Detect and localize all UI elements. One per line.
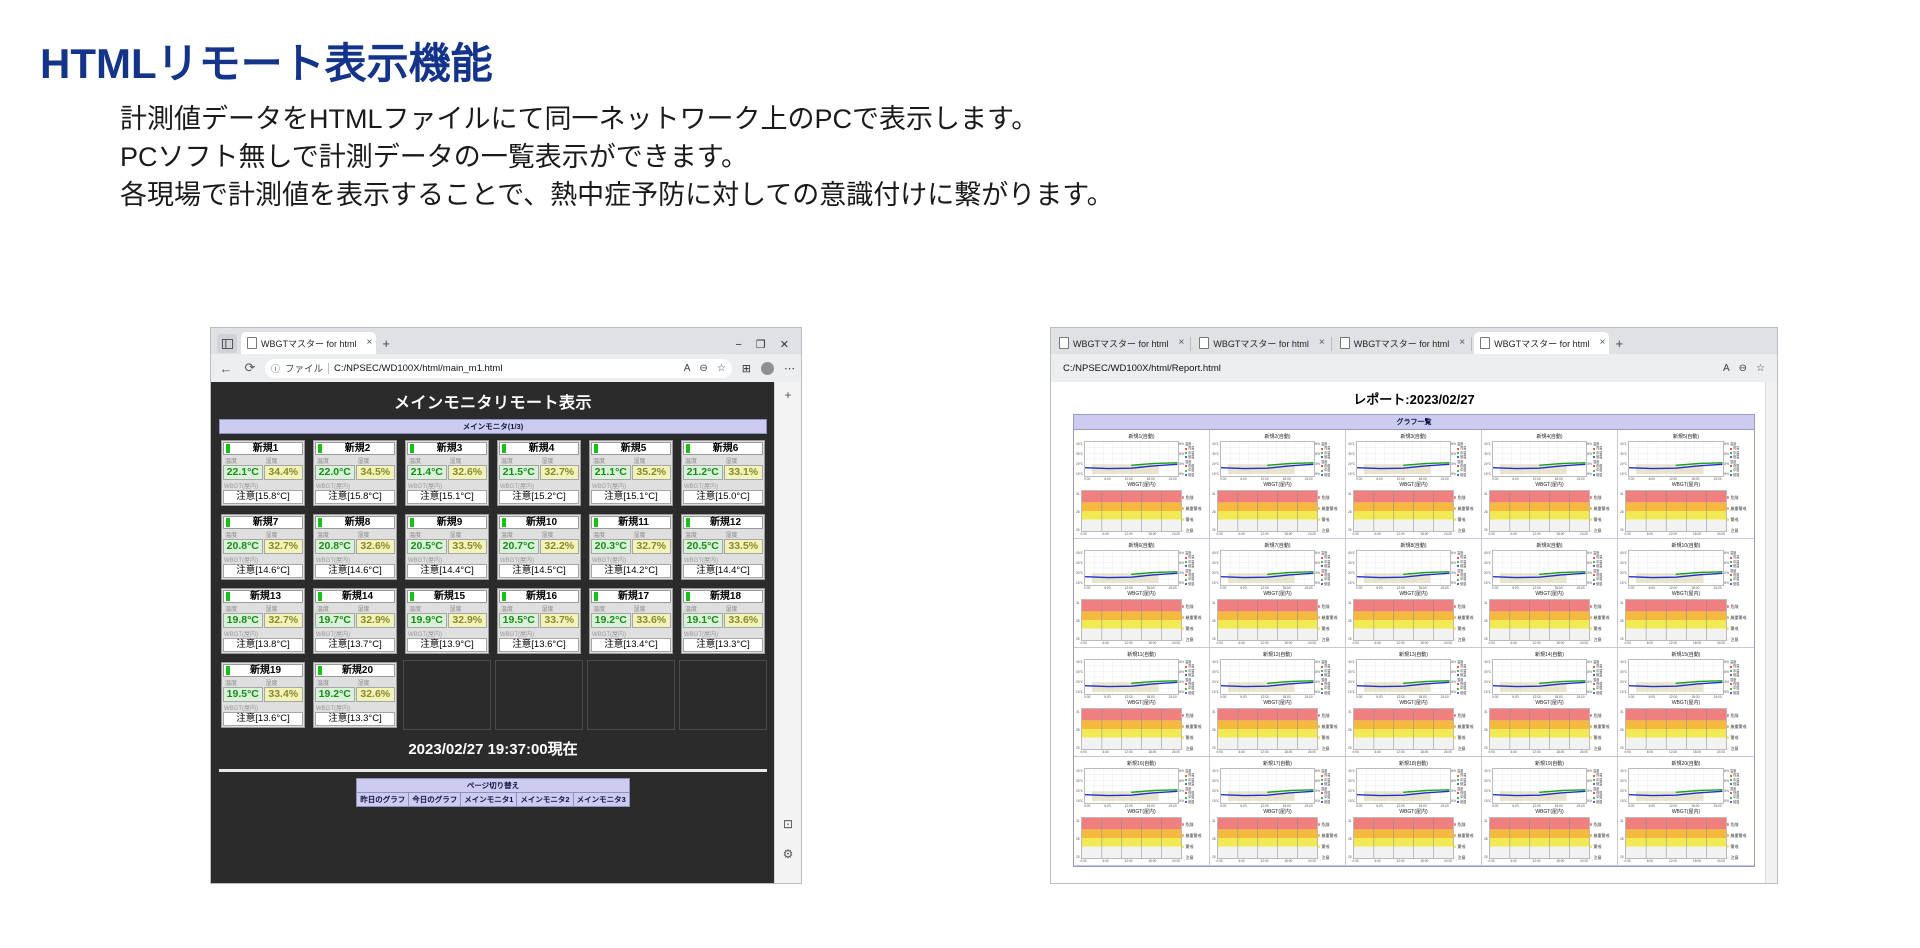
- status-led-icon: [686, 518, 690, 527]
- x-axis: 0:006:0012:0018:0024:00: [1356, 477, 1448, 481]
- legend-swatch: [1321, 670, 1323, 672]
- wbgt-chart-title: WBGT(屋内): [1484, 808, 1615, 815]
- legend-swatch: [1321, 452, 1323, 454]
- report-chart-cell[interactable]: 新規2(自動)40℃30℃20℃15℃0:006:0012:0018:0024:…: [1210, 430, 1346, 539]
- monitor-cell-labels: 温度湿度: [407, 456, 487, 465]
- humidity-value: 32.9%: [448, 613, 488, 628]
- status-led-icon: [226, 444, 230, 453]
- monitor-cell-box: 新規9温度湿度20.5°C33.5%WBGT(屋内)注意[14.4°C]: [405, 514, 489, 580]
- monitor-cell-name: 新規2: [325, 443, 394, 454]
- monitor-cell-labels: 温度湿度: [499, 604, 579, 613]
- monitor-cell[interactable]: 新規5温度湿度21.1°C35.2%WBGT(屋内)注意[15.1°C]: [587, 438, 675, 508]
- monitor-cell-box: 新規5温度湿度21.1°C35.2%WBGT(屋内)注意[15.1°C]: [589, 440, 673, 506]
- legend-swatch: [1185, 779, 1187, 781]
- status-led-icon: [686, 592, 690, 601]
- wbgt-chart-title: WBGT(屋内): [1212, 481, 1343, 488]
- wbgt-chart-title: WBGT(屋内): [1484, 590, 1615, 597]
- monitor-cell-header: 新規5: [591, 442, 671, 455]
- temp-label: 温度: [683, 604, 723, 613]
- legend-item: 危険: [1453, 819, 1479, 830]
- chart-legend: 温度高温中温低温湿度高湿中湿低湿: [1457, 441, 1479, 477]
- legend-swatch: [1185, 557, 1187, 559]
- page-title: HTMLリモート表示機能: [40, 30, 493, 91]
- monitor-cell-labels: 温度湿度: [223, 530, 303, 539]
- maximize-button[interactable]: ❐: [756, 338, 766, 351]
- legend-label: 厳重警戒: [1594, 830, 1610, 841]
- monitor-cell-box: 新規10温度湿度20.7°C32.2%WBGT(屋内)注意[14.5°C]: [497, 514, 581, 580]
- wbgt-plot-area: 0:006:0012:0018:0024:00: [1217, 708, 1316, 754]
- temp-label: 温度: [499, 530, 539, 539]
- tab-wbgt-2[interactable]: WBGTマスター for html×: [1193, 332, 1328, 354]
- page-icon: [1059, 337, 1069, 349]
- report-chart-cell[interactable]: 新規9(自動)40℃30℃20℃15℃0:006:0012:0018:0024:…: [1482, 539, 1618, 648]
- wbgt-x-axis: 0:006:0012:0018:0024:00: [1489, 532, 1588, 536]
- monitor-cell[interactable]: 新規14温度湿度19.7°C32.9%WBGT(屋内)注意[13.7°C]: [311, 586, 399, 656]
- chart-legend: 温度高温中温低温湿度高湿中湿低湿: [1185, 550, 1207, 586]
- page-switch-button[interactable]: 今日のグラフ: [409, 793, 461, 806]
- page-icon: [1480, 337, 1490, 349]
- legend-item: 警戒: [1589, 514, 1615, 525]
- close-window-button[interactable]: ✕: [780, 338, 789, 351]
- monitor-cell[interactable]: 新規1温度湿度22.1°C34.4%WBGT(屋内)注意[15.8°C]: [219, 438, 307, 508]
- wbgt-label: WBGT(屋内): [407, 481, 487, 490]
- wbgt-x-axis: 0:006:0012:0018:0024:00: [1625, 641, 1725, 645]
- report-chart-cell[interactable]: 新規15(自動)40℃30℃20℃15℃0:006:0012:0018:0024…: [1618, 648, 1754, 757]
- hum-label: 湿度: [356, 456, 396, 465]
- legend-label: 低温: [1596, 782, 1602, 786]
- plot-area: 0:006:0012:0018:0024:00: [1084, 550, 1176, 590]
- monitor-cell[interactable]: 新規16温度湿度19.5°C33.7%WBGT(屋内)注意[13.6°C]: [495, 586, 583, 656]
- report-chart-cell[interactable]: 新規18(自動)40℃30℃20℃15℃0:006:0012:0018:0024…: [1346, 757, 1482, 866]
- monitor-cell-header: 新規11: [591, 516, 671, 529]
- wbgt-plot-area: 0:006:0012:0018:0024:00: [1081, 817, 1180, 863]
- url-text: C:/NPSEC/WD100X/html/Report.html: [1063, 363, 1221, 374]
- temp-label: 温度: [315, 456, 355, 465]
- legend-swatch: [1593, 666, 1595, 668]
- y-axis-left: 40℃30℃20℃15℃: [1348, 768, 1355, 803]
- status-badge: 注意[13.9°C]: [407, 638, 487, 652]
- legend-label: 厳重警戒: [1594, 612, 1610, 623]
- legend-label: 危険: [1594, 492, 1602, 503]
- legend-swatch: [1185, 683, 1187, 685]
- legend-swatch: [1185, 801, 1187, 803]
- more-icon[interactable]: ⋯: [784, 362, 795, 375]
- legend-swatch: [1730, 456, 1732, 458]
- legend-label: 厳重警戒: [1186, 721, 1202, 732]
- monitor-cell[interactable]: 新規19温度湿度19.5°C33.4%WBGT(屋内)注意[13.6°C]: [219, 660, 307, 730]
- temp-label: 温度: [315, 678, 355, 687]
- chart-title: 新規13(自動): [1348, 651, 1479, 658]
- minimize-button[interactable]: −: [735, 339, 741, 351]
- legend-swatch: [1321, 688, 1323, 690]
- wbgt-legend: 危険厳重警戒警戒注意: [1453, 599, 1479, 645]
- plot-area: 0:006:0012:0018:0024:00: [1356, 441, 1448, 481]
- legend-swatch: [1457, 670, 1459, 672]
- report-chart-cell[interactable]: 新規12(自動)40℃30℃20℃15℃0:006:0012:0018:0024…: [1210, 648, 1346, 757]
- report-chart-cell[interactable]: 新規19(自動)40℃30℃20℃15℃0:006:0012:0018:0024…: [1482, 757, 1618, 866]
- legend-swatch: [1185, 670, 1187, 672]
- line-chart: 40℃30℃20℃15℃0:006:0012:0018:0024:0085%65…: [1212, 441, 1343, 481]
- legend-label: 危険: [1186, 492, 1194, 503]
- tab-wbgt-1[interactable]: WBGTマスター for html ×: [241, 332, 376, 354]
- line-chart: 40℃30℃20℃15℃0:006:0012:0018:0024:0085%65…: [1076, 768, 1207, 808]
- monitor-cell-header: 新規14: [315, 590, 395, 603]
- reload-icon[interactable]: ⟳: [241, 360, 259, 376]
- avatar[interactable]: [761, 362, 774, 375]
- humidity-value: 32.6%: [448, 465, 488, 480]
- monitor-cell-name: 新規7: [233, 517, 302, 528]
- plot-area: 0:006:0012:0018:0024:00: [1084, 659, 1176, 699]
- status-led-icon: [594, 592, 598, 601]
- report-chart-cell[interactable]: 新規5(自動)40℃30℃20℃15℃0:006:0012:0018:0024:…: [1618, 430, 1754, 539]
- wbgt-label: WBGT(屋内): [315, 703, 395, 712]
- wbgt-label: WBGT(屋内): [407, 629, 487, 638]
- legend-label: 低温: [1596, 673, 1602, 677]
- monitor-cell-values: 19.2°C33.6%: [591, 613, 671, 628]
- legend-swatch: [1321, 666, 1323, 668]
- settings-gear-icon[interactable]: ⚙: [775, 847, 801, 861]
- y-axis-left: 40℃30℃20℃15℃: [1348, 550, 1355, 585]
- monitor-cell[interactable]: 新規17温度湿度19.2°C33.6%WBGT(屋内)注意[13.4°C]: [587, 586, 675, 656]
- legend-swatch: [1185, 561, 1187, 563]
- monitor-cell[interactable]: 新規7温度湿度20.8°C32.7%WBGT(屋内)注意[14.6°C]: [219, 512, 307, 582]
- chart-title: 新規15(自動): [1620, 651, 1752, 658]
- add-side-icon[interactable]: +: [775, 388, 801, 402]
- page-switch-button[interactable]: メインモニタ3: [574, 793, 629, 806]
- wbgt-chart: 3128250:006:0012:0018:0024:00危険厳重警戒警戒注意: [1348, 490, 1479, 536]
- report-chart-cell[interactable]: 新規6(自動)40℃30℃20℃15℃0:006:0012:0018:0024:…: [1074, 539, 1210, 648]
- page-switch-button[interactable]: メインモニタ1: [461, 793, 517, 806]
- legend-swatch: [1321, 683, 1323, 685]
- report-chart-cell[interactable]: 新規20(自動)40℃30℃20℃15℃0:006:0012:0018:0024…: [1618, 757, 1754, 866]
- line-chart: 40℃30℃20℃15℃0:006:0012:0018:0024:0085%65…: [1484, 659, 1615, 699]
- status-badge: 注意[14.6°C]: [315, 564, 395, 578]
- legend-label: 低温: [1188, 455, 1194, 459]
- legend-label: 低温: [1324, 564, 1330, 568]
- tab-wbgt-1[interactable]: WBGTマスター for html×: [1053, 332, 1188, 354]
- legend-swatch: [1730, 574, 1732, 576]
- legend-label: 注意: [1458, 525, 1466, 536]
- report-chart-cell[interactable]: 新規4(自動)40℃30℃20℃15℃0:006:0012:0018:0024:…: [1482, 430, 1618, 539]
- monitor-timestamp: 2023/02/27 19:37:00現在: [211, 730, 775, 769]
- monitor-cell-labels: 温度湿度: [683, 604, 763, 613]
- legend-label: 警戒: [1731, 841, 1739, 852]
- split-screen-icon[interactable]: ⊡: [775, 817, 801, 831]
- monitor-cell[interactable]: 新規15温度湿度19.9°C32.9%WBGT(屋内)注意[13.9°C]: [403, 586, 491, 656]
- page-switch-button[interactable]: メインモニタ2: [517, 793, 573, 806]
- y-axis-left: 40℃30℃20℃15℃: [1076, 550, 1083, 585]
- legend-swatch: [1457, 683, 1459, 685]
- wbgt-plot-area: 0:006:0012:0018:0024:00: [1489, 490, 1588, 536]
- legend-swatch: [1593, 456, 1595, 458]
- tab-actions-icon[interactable]: [217, 334, 237, 353]
- wbgt-x-axis: 0:006:0012:0018:0024:00: [1217, 859, 1316, 863]
- hum-label: 湿度: [448, 530, 488, 539]
- wbgt-chart-title: WBGT(屋内): [1348, 481, 1479, 488]
- back-icon[interactable]: ←: [217, 361, 235, 376]
- hum-label: 湿度: [264, 530, 304, 539]
- monitor-cell[interactable]: 新規9温度湿度20.5°C33.5%WBGT(屋内)注意[14.4°C]: [403, 512, 491, 582]
- wbgt-label: WBGT(屋内): [683, 629, 763, 638]
- report-chart-cell[interactable]: 新規10(自動)40℃30℃20℃15℃0:006:0012:0018:0024…: [1618, 539, 1754, 648]
- monitor-cell[interactable]: 新規8温度湿度20.8°C32.6%WBGT(屋内)注意[14.6°C]: [311, 512, 399, 582]
- monitor-cell[interactable]: 新規2温度湿度22.0°C34.5%WBGT(屋内)注意[15.8°C]: [311, 438, 399, 508]
- report-chart-cell[interactable]: 新規13(自動)40℃30℃20℃15℃0:006:0012:0018:0024…: [1346, 648, 1482, 757]
- y-axis-left: 40℃30℃20℃15℃: [1076, 441, 1083, 476]
- legend-item: 注意: [1726, 634, 1752, 645]
- favorite-icon[interactable]: ☆: [717, 363, 726, 374]
- hum-label: 湿度: [448, 456, 488, 465]
- legend-label: 警戒: [1322, 514, 1330, 525]
- wbgt-plot-area: 0:006:0012:0018:0024:00: [1081, 708, 1180, 754]
- legend-item: 危険: [1726, 710, 1752, 721]
- monitor-cell[interactable]: 新規3温度湿度21.4°C32.6%WBGT(屋内)注意[15.1°C]: [403, 438, 491, 508]
- legend-item: 危険: [1726, 492, 1752, 503]
- legend-label: 低温: [1733, 782, 1739, 786]
- legend-label: 注意: [1458, 852, 1466, 863]
- monitor-cell-labels: 温度湿度: [499, 530, 579, 539]
- zoom-out-icon[interactable]: ⊖: [699, 363, 707, 374]
- temp-label: 温度: [315, 604, 355, 613]
- y-axis-left: 40℃30℃20℃15℃: [1484, 659, 1491, 694]
- legend-item: 危険: [1726, 819, 1752, 830]
- line-chart: 40℃30℃20℃15℃0:006:0012:0018:0024:0085%65…: [1484, 768, 1615, 808]
- wbgt-plot-area: 0:006:0012:0018:0024:00: [1353, 599, 1452, 645]
- legend-swatch: [1457, 674, 1459, 676]
- wbgt-x-axis: 0:006:0012:0018:0024:00: [1353, 641, 1452, 645]
- read-aloud-icon[interactable]: A: [684, 363, 691, 374]
- wbgt-x-axis: 0:006:0012:0018:0024:00: [1217, 641, 1316, 645]
- monitor-cell-labels: 温度湿度: [223, 678, 303, 687]
- new-tab-button[interactable]: +: [1615, 336, 1623, 351]
- wbgt-chart: 3128250:006:0012:0018:0024:00危険厳重警戒警戒注意: [1484, 708, 1615, 754]
- monitor-cell-labels: 温度湿度: [683, 456, 763, 465]
- monitor-cell-labels: 温度湿度: [499, 456, 579, 465]
- report-chart-cell[interactable]: 新規14(自動)40℃30℃20℃15℃0:006:0012:0018:0024…: [1482, 648, 1618, 757]
- legend-swatch: [1730, 465, 1732, 467]
- status-led-icon: [318, 592, 322, 601]
- x-axis: 0:006:0012:0018:0024:00: [1492, 586, 1584, 590]
- legend-item: 注意: [1726, 743, 1752, 754]
- legend-swatch: [1593, 692, 1595, 694]
- report-chart-cell[interactable]: 新規11(自動)40℃30℃20℃15℃0:006:0012:0018:0024…: [1074, 648, 1210, 757]
- wbgt-chart-title: WBGT(屋内): [1348, 808, 1479, 815]
- legend-item: 警戒: [1726, 514, 1752, 525]
- legend-label: 注意: [1186, 634, 1194, 645]
- wbgt-y-axis: 312825: [1076, 708, 1080, 750]
- monitor-cell[interactable]: 新規6温度湿度21.2°C33.1%WBGT(屋内)注意[15.0°C]: [679, 438, 767, 508]
- wbgt-chart: 3128250:006:0012:0018:0024:00危険厳重警戒警戒注意: [1484, 490, 1615, 536]
- site-info-icon[interactable]: ⓘ: [271, 362, 280, 375]
- legend-swatch: [1321, 674, 1323, 676]
- legend-swatch: [1185, 465, 1187, 467]
- report-grid: 新規1(自動)40℃30℃20℃15℃0:006:0012:0018:0024:…: [1074, 430, 1754, 866]
- wbgt-chart: 3128250:006:0012:0018:0024:00危険厳重警戒警戒注意: [1348, 817, 1479, 863]
- legend-label: 低湿: [1460, 473, 1466, 477]
- legend-swatch: [1185, 574, 1187, 576]
- collections-icon[interactable]: ⊞: [742, 362, 751, 375]
- legend-label: 警戒: [1458, 841, 1466, 852]
- monitor-cell-header: 新規2: [315, 442, 395, 455]
- legend-label: 注意: [1186, 743, 1194, 754]
- page-icon: [1199, 337, 1209, 349]
- temp-label: 温度: [591, 456, 631, 465]
- tab-wbgt-4[interactable]: WBGTマスター for html×: [1474, 332, 1609, 354]
- status-badge: 注意[13.3°C]: [683, 638, 763, 652]
- legend-swatch: [1730, 775, 1732, 777]
- legend-item: 警戒: [1181, 623, 1207, 634]
- address-input[interactable]: C:/NPSEC/WD100X/html/Report.html A ⊖ ☆: [1057, 359, 1771, 378]
- x-axis: 0:006:0012:0018:0024:00: [1492, 695, 1584, 699]
- wbgt-plot-area: 0:006:0012:0018:0024:00: [1489, 599, 1588, 645]
- wbgt-legend: 危険厳重警戒警戒注意: [1726, 708, 1752, 754]
- monitor-cell[interactable]: 新規11温度湿度20.3°C32.7%WBGT(屋内)注意[14.2°C]: [587, 512, 675, 582]
- monitor-cell[interactable]: 新規12温度湿度20.5°C33.5%WBGT(屋内)注意[14.4°C]: [679, 512, 767, 582]
- legend-item: 警戒: [1726, 623, 1752, 634]
- line-chart: 40℃30℃20℃15℃0:006:0012:0018:0024:0085%65…: [1348, 550, 1479, 590]
- report-chart-cell[interactable]: 新規16(自動)40℃30℃20℃15℃0:006:0012:0018:0024…: [1074, 757, 1210, 866]
- legend-swatch: [1457, 792, 1459, 794]
- legend-label: 厳重警戒: [1594, 503, 1610, 514]
- legend-label: 危険: [1731, 710, 1739, 721]
- wbgt-chart: 3128250:006:0012:0018:0024:00危険厳重警戒警戒注意: [1212, 599, 1343, 645]
- humidity-value: 33.7%: [540, 613, 580, 628]
- report-chart-cell[interactable]: 新規3(自動)40℃30℃20℃15℃0:006:0012:0018:0024:…: [1346, 430, 1482, 539]
- monitor-cell[interactable]: 新規10温度湿度20.7°C32.2%WBGT(屋内)注意[14.5°C]: [495, 512, 583, 582]
- wbgt-plot-area: 0:006:0012:0018:0024:00: [1625, 708, 1725, 754]
- monitor-cell[interactable]: 新規4温度湿度21.5°C32.7%WBGT(屋内)注意[15.2°C]: [495, 438, 583, 508]
- left-tab-strip: WBGTマスター for html × + − ❐ ✕: [211, 328, 801, 354]
- tab-close-icon[interactable]: ×: [1319, 338, 1325, 348]
- monitor-cell-header: 新規3: [407, 442, 487, 455]
- tab-wbgt-3[interactable]: WBGTマスター for html×: [1334, 332, 1469, 354]
- legend-item: 警戒: [1181, 841, 1207, 852]
- legend-swatch: [1185, 783, 1187, 785]
- humidity-value: 32.7%: [540, 465, 580, 480]
- legend-label: 危険: [1458, 601, 1466, 612]
- wbgt-chart-title: WBGT(屋内): [1620, 590, 1752, 597]
- right-scrollbar[interactable]: [1765, 382, 1777, 883]
- legend-item: 警戒: [1317, 514, 1343, 525]
- report-chart-cell[interactable]: 新規8(自動)40℃30℃20℃15℃0:006:0012:0018:0024:…: [1346, 539, 1482, 648]
- tab-close-icon[interactable]: ×: [367, 338, 373, 348]
- report-board: グラフ一覧 新規1(自動)40℃30℃20℃15℃0:006:0012:0018…: [1073, 414, 1755, 867]
- line-chart: 40℃30℃20℃15℃0:006:0012:0018:0024:0085%65…: [1076, 441, 1207, 481]
- status-led-icon: [410, 518, 414, 527]
- legend-item: 警戒: [1589, 841, 1615, 852]
- humidity-value: 34.5%: [356, 465, 396, 480]
- legend-item: 低湿: [1730, 800, 1752, 804]
- x-axis: 0:006:0012:0018:0024:00: [1628, 477, 1721, 481]
- monitor-cell-header: 新規6: [683, 442, 763, 455]
- wbgt-legend: 危険厳重警戒警戒注意: [1181, 599, 1207, 645]
- plot-area: 0:006:0012:0018:0024:00: [1356, 659, 1448, 699]
- status-badge: 注意[13.3°C]: [315, 712, 395, 726]
- legend-label: 厳重警戒: [1322, 612, 1338, 623]
- legend-item: 危険: [1589, 492, 1615, 503]
- wbgt-chart: 3128250:006:0012:0018:0024:00危険厳重警戒警戒注意: [1212, 490, 1343, 536]
- tab-close-icon[interactable]: ×: [1600, 338, 1606, 348]
- wbgt-x-axis: 0:006:0012:0018:0024:00: [1353, 532, 1452, 536]
- report-chart-cell[interactable]: 新規7(自動)40℃30℃20℃15℃0:006:0012:0018:0024:…: [1210, 539, 1346, 648]
- legend-label: 危険: [1458, 710, 1466, 721]
- monitor-cell-name: 新規12: [693, 517, 762, 528]
- legend-label: 低温: [1596, 564, 1602, 568]
- new-tab-button[interactable]: +: [382, 336, 390, 351]
- report-chart-cell[interactable]: 新規1(自動)40℃30℃20℃15℃0:006:0012:0018:0024:…: [1074, 430, 1210, 539]
- legend-item: 厳重警戒: [1181, 503, 1207, 514]
- legend-item: 危険: [1181, 710, 1207, 721]
- monitor-cell[interactable]: 新規18温度湿度19.1°C33.6%WBGT(屋内)注意[13.3°C]: [679, 586, 767, 656]
- left-address-bar: ← ⟳ ⓘ ファイル C:/NPSEC/WD100X/html/main_m1.…: [211, 354, 801, 382]
- monitor-cell-labels: 温度湿度: [591, 530, 671, 539]
- wbgt-label: WBGT(屋内): [683, 481, 763, 490]
- legend-label: 厳重警戒: [1731, 721, 1747, 732]
- legend-swatch: [1593, 474, 1595, 476]
- legend-label: 低湿: [1188, 800, 1194, 804]
- zoom-out-icon[interactable]: ⊖: [1739, 363, 1747, 374]
- monitor-cell-header: 新規12: [683, 516, 763, 529]
- legend-swatch: [1730, 779, 1732, 781]
- x-axis: 0:006:0012:0018:0024:00: [1220, 477, 1312, 481]
- legend-label: 注意: [1186, 852, 1194, 863]
- monitor-cell[interactable]: 新規13温度湿度19.8°C32.7%WBGT(屋内)注意[13.8°C]: [219, 586, 307, 656]
- chart-legend: 温度高温中温低温湿度高湿中湿低湿: [1185, 441, 1207, 477]
- legend-item: 注意: [1726, 852, 1752, 863]
- address-input[interactable]: ⓘ ファイル C:/NPSEC/WD100X/html/main_m1.html…: [265, 359, 732, 378]
- humidity-value: 33.6%: [632, 613, 672, 628]
- wbgt-chart-title: WBGT(屋内): [1484, 481, 1615, 488]
- legend-swatch: [1730, 683, 1732, 685]
- hum-label: 湿度: [632, 456, 672, 465]
- wbgt-legend: 危険厳重警戒警戒注意: [1453, 708, 1479, 754]
- page-switch-button[interactable]: 昨日のグラフ: [357, 793, 409, 806]
- legend-label: 注意: [1731, 852, 1739, 863]
- left-scrollbar[interactable]: + ⊡ ⚙: [774, 382, 801, 883]
- chart-title: 新規18(自動): [1348, 760, 1479, 767]
- legend-swatch: [1457, 583, 1459, 585]
- legend-swatch: [1730, 674, 1732, 676]
- hum-label: 湿度: [264, 678, 304, 687]
- read-aloud-icon[interactable]: A: [1723, 363, 1730, 374]
- legend-swatch: [1185, 674, 1187, 676]
- legend-label: 低湿: [1324, 800, 1330, 804]
- hum-label: 湿度: [356, 678, 396, 687]
- monitor-heading: メインモニタリモート表示: [211, 382, 775, 419]
- tab-close-icon[interactable]: ×: [1179, 338, 1185, 348]
- legend-label: 注意: [1594, 743, 1602, 754]
- temperature-value: 19.5°C: [223, 687, 263, 702]
- report-chart-cell[interactable]: 新規17(自動)40℃30℃20℃15℃0:006:0012:0018:0024…: [1210, 757, 1346, 866]
- temperature-value: 21.5°C: [499, 465, 539, 480]
- legend-swatch: [1185, 474, 1187, 476]
- legend-item: 危険: [1181, 819, 1207, 830]
- temp-label: 温度: [591, 530, 631, 539]
- wbgt-plot-area: 0:006:0012:0018:0024:00: [1353, 490, 1452, 536]
- legend-item: 厳重警戒: [1726, 612, 1752, 623]
- monitor-cell[interactable]: 新規20温度湿度19.2°C32.6%WBGT(屋内)注意[13.3°C]: [311, 660, 399, 730]
- status-badge: 注意[15.8°C]: [315, 490, 395, 504]
- tab-close-icon[interactable]: ×: [1459, 338, 1465, 348]
- wbgt-x-axis: 0:006:0012:0018:0024:00: [1353, 750, 1452, 754]
- favorite-icon[interactable]: ☆: [1756, 363, 1765, 374]
- plot-area: 0:006:0012:0018:0024:00: [1356, 550, 1448, 590]
- legend-swatch: [1457, 456, 1459, 458]
- chart-title: 新規9(自動): [1484, 542, 1615, 549]
- line-chart: 40℃30℃20℃15℃0:006:0012:0018:0024:0085%65…: [1484, 441, 1615, 481]
- legend-item: 低湿: [1185, 582, 1207, 586]
- wbgt-label: WBGT(屋内): [223, 703, 303, 712]
